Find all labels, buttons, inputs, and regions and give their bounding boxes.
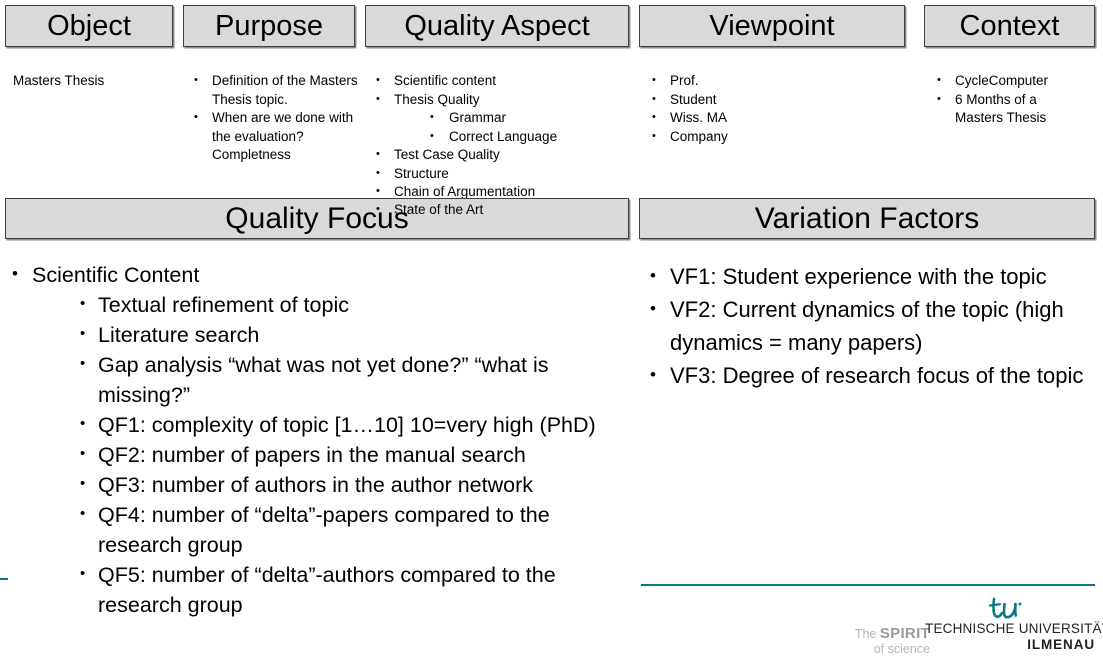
list-item: Definition of the Masters Thesis topic. <box>190 72 358 109</box>
spirit-line-1: The SPIRIT <box>790 626 930 642</box>
list-item: Textual refinement of topic <box>32 290 630 320</box>
purpose-list: Definition of the Masters Thesis topic. … <box>190 72 358 165</box>
viewpoint-list: Prof. Student Wiss. MA Company <box>648 72 898 146</box>
quality-aspect-list: Scientific content Thesis Quality Gramma… <box>372 72 634 202</box>
header-box-context: Context <box>924 5 1095 47</box>
header-label-viewpoint: Viewpoint <box>709 12 834 41</box>
header-label-purpose: Purpose <box>215 12 323 41</box>
list-item: QF4: number of “delta”-papers compared t… <box>32 500 630 560</box>
list-item: Company <box>648 128 898 147</box>
list-item: Gap analysis “what was not yet done?” “w… <box>32 350 630 410</box>
quality-aspect-overflow-list: State of the Art <box>372 201 634 220</box>
quality-aspect-overflow-item: State of the Art <box>372 201 634 220</box>
list-item: VF3: Degree of research focus of the top… <box>648 359 1088 392</box>
list-item: 6 Months of a Masters Thesis <box>933 91 1083 128</box>
object-content: Masters Thesis <box>13 72 173 91</box>
thesis-quality-sublist: Grammar Correct Language <box>394 109 634 146</box>
list-item: Test Case Quality <box>372 146 634 165</box>
list-item: Thesis Quality Grammar Correct Language <box>372 91 634 147</box>
header-box-viewpoint: Viewpoint <box>639 5 905 47</box>
header-box-purpose: Purpose <box>183 5 355 47</box>
purpose-content: Definition of the Masters Thesis topic. … <box>190 72 358 165</box>
header-label-quality-aspect: Quality Aspect <box>404 12 589 41</box>
viewpoint-content: Prof. Student Wiss. MA Company <box>648 72 898 146</box>
list-item: Grammar <box>394 109 634 128</box>
list-item: Scientific Content Textual refinement of… <box>10 260 630 620</box>
quality-aspect-content: Scientific content Thesis Quality Gramma… <box>372 72 634 202</box>
list-item: When are we done with the evaluation? Co… <box>190 109 358 165</box>
list-item-label: Thesis Quality <box>394 92 480 107</box>
header-box-variation-factors: Variation Factors <box>639 198 1095 239</box>
spirit-the: The <box>855 627 880 641</box>
header-box-quality-aspect: Quality Aspect <box>365 5 629 47</box>
quality-focus-content: Scientific Content Textual refinement of… <box>10 260 630 620</box>
list-item: Scientific content <box>372 72 634 91</box>
object-item-0: Masters Thesis <box>13 72 173 91</box>
spirit-line-2: of science <box>790 642 930 657</box>
context-content: CycleComputer 6 Months of a Masters Thes… <box>933 72 1083 128</box>
list-item: QF2: number of papers in the manual sear… <box>32 440 630 470</box>
list-item: State of the Art <box>372 201 634 220</box>
list-item: Structure <box>372 165 634 184</box>
tu-name-label: TECHNISCHE UNIVERSITÄT <box>925 621 1095 637</box>
header-label-context: Context <box>960 12 1060 41</box>
context-list: CycleComputer 6 Months of a Masters Thes… <box>933 72 1083 128</box>
list-item: QF1: complexity of topic [1…10] 10=very … <box>32 410 630 440</box>
header-label-variation-factors: Variation Factors <box>755 204 980 234</box>
list-item: CycleComputer <box>933 72 1083 91</box>
list-item: Prof. <box>648 72 898 91</box>
variation-factors-list: VF1: Student experience with the topic V… <box>648 260 1088 392</box>
left-edge-tick <box>0 578 8 580</box>
header-label-object: Object <box>47 12 131 41</box>
tu-city-label: ILMENAU <box>925 637 1095 653</box>
tu-ilmenau-logo: TECHNISCHE UNIVERSITÄT ILMENAU <box>925 596 1095 653</box>
tu-monogram-icon <box>925 596 1095 622</box>
list-item-label: Scientific Content <box>32 263 199 287</box>
list-item: Correct Language <box>394 128 634 147</box>
header-box-object: Object <box>5 5 173 47</box>
list-item: Literature search <box>32 320 630 350</box>
footer-divider-line <box>641 584 1095 586</box>
spirit-of-science-tagline: The SPIRIT of science <box>790 626 930 657</box>
spirit-word: SPIRIT <box>880 625 930 642</box>
quality-focus-sublist: Textual refinement of topic Literature s… <box>32 290 630 620</box>
list-item: Student <box>648 91 898 110</box>
list-item: QF5: number of “delta”-authors compared … <box>32 560 630 620</box>
list-item: VF2: Current dynamics of the topic (high… <box>648 293 1088 359</box>
variation-factors-content: VF1: Student experience with the topic V… <box>648 260 1088 392</box>
quality-focus-list: Scientific Content Textual refinement of… <box>10 260 630 620</box>
list-item: Wiss. MA <box>648 109 898 128</box>
list-item: VF1: Student experience with the topic <box>648 260 1088 293</box>
list-item: QF3: number of authors in the author net… <box>32 470 630 500</box>
